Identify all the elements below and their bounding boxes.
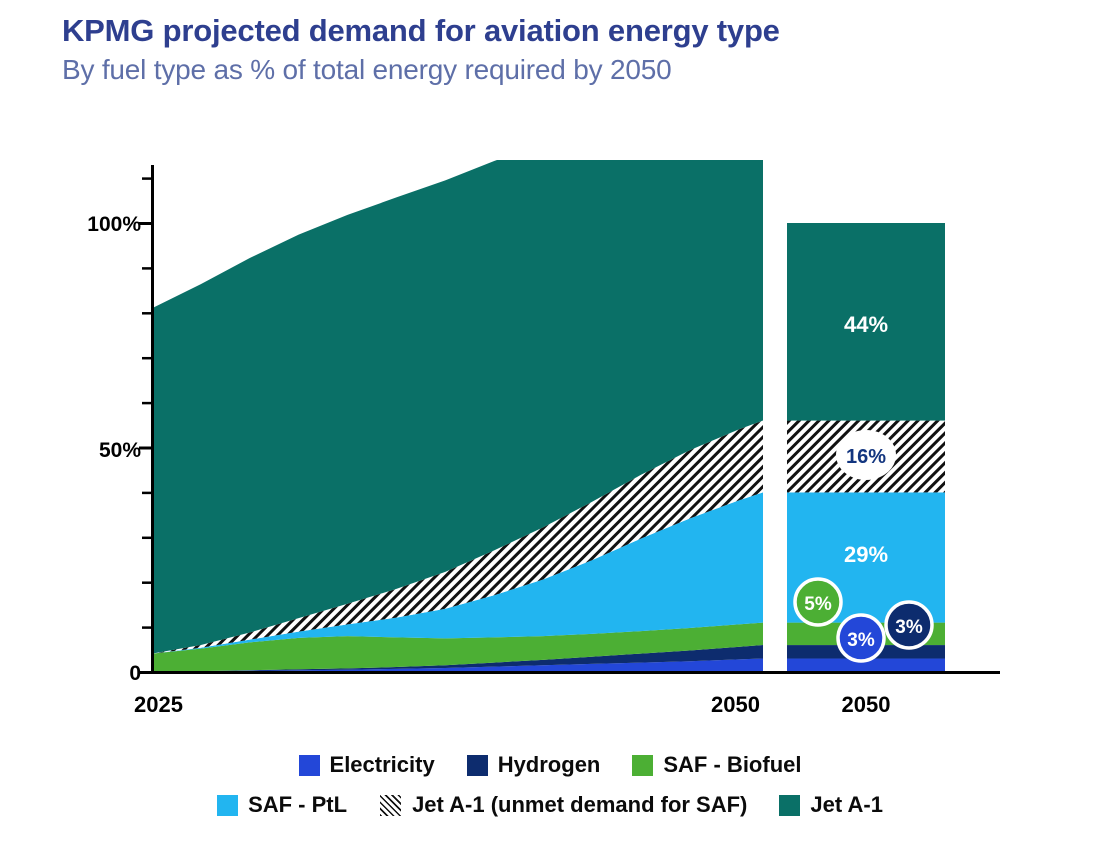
bar-value-saf-ptl: 29% (844, 542, 888, 567)
area-stack (152, 86, 763, 672)
legend: Electricity Hydrogen SAF - Biofuel SAF -… (0, 745, 1100, 825)
chart-root: KPMG projected demand for aviation energ… (0, 0, 1100, 846)
legend-item-hydrogen[interactable]: Hydrogen (467, 752, 601, 778)
callout-label-electricity: 3% (847, 630, 875, 651)
legend-swatch-icon-electricity (299, 755, 320, 776)
legend-label-unmet-demand: Jet A-1 (unmet demand for SAF) (412, 792, 747, 818)
bar-value-jet-a1: 44% (844, 312, 888, 337)
legend-row-2: SAF - PtL Jet A-1 (unmet demand for SAF)… (0, 785, 1100, 825)
x-axis-label-2050-area: 2050 (711, 692, 760, 717)
legend-swatch-icon-hydrogen (467, 755, 488, 776)
legend-label-saf-biofuel: SAF - Biofuel (663, 752, 801, 778)
x-axis-label-2025: 2025 (134, 692, 183, 717)
legend-swatch-icon-jet-a1 (779, 795, 800, 816)
plot-area: 44%16%29% 5% 3% 3% 100%50%0202520502050 (0, 0, 1100, 846)
legend-item-jet-a1[interactable]: Jet A-1 (779, 792, 883, 818)
callout-saf-biofuel: 5% (795, 579, 841, 625)
legend-item-electricity[interactable]: Electricity (299, 752, 435, 778)
callout-label-hydrogen: 3% (895, 617, 923, 638)
legend-row-1: Electricity Hydrogen SAF - Biofuel (0, 745, 1100, 785)
callout-electricity: 3% (838, 615, 884, 661)
legend-label-electricity: Electricity (330, 752, 435, 778)
legend-label-hydrogen: Hydrogen (498, 752, 601, 778)
bar-value-unmet: 16% (846, 446, 886, 468)
y-tick-label-100: 100% (87, 213, 141, 236)
legend-label-jet-a1: Jet A-1 (810, 792, 883, 818)
legend-item-unmet-demand[interactable]: Jet A-1 (unmet demand for SAF) (379, 792, 747, 818)
y-axis-ticks (139, 179, 152, 673)
legend-label-saf-ptl: SAF - PtL (248, 792, 347, 818)
chart-svg: 44%16%29% 5% 3% 3% 100%50%0202520502050 (0, 0, 1100, 846)
legend-swatch-icon-saf-biofuel (632, 755, 653, 776)
x-axis-label-2050-bar: 2050 (842, 692, 891, 717)
legend-item-saf-ptl[interactable]: SAF - PtL (217, 792, 347, 818)
legend-swatch-icon-unmet-demand (379, 794, 402, 817)
y-tick-label-50: 50% (99, 439, 141, 462)
legend-swatch-icon-saf-ptl (217, 795, 238, 816)
y-tick-label-0: 0 (129, 662, 141, 685)
callout-hydrogen: 3% (886, 602, 932, 648)
callout-label-saf-biofuel: 5% (804, 594, 832, 615)
legend-item-saf-biofuel[interactable]: SAF - Biofuel (632, 752, 801, 778)
